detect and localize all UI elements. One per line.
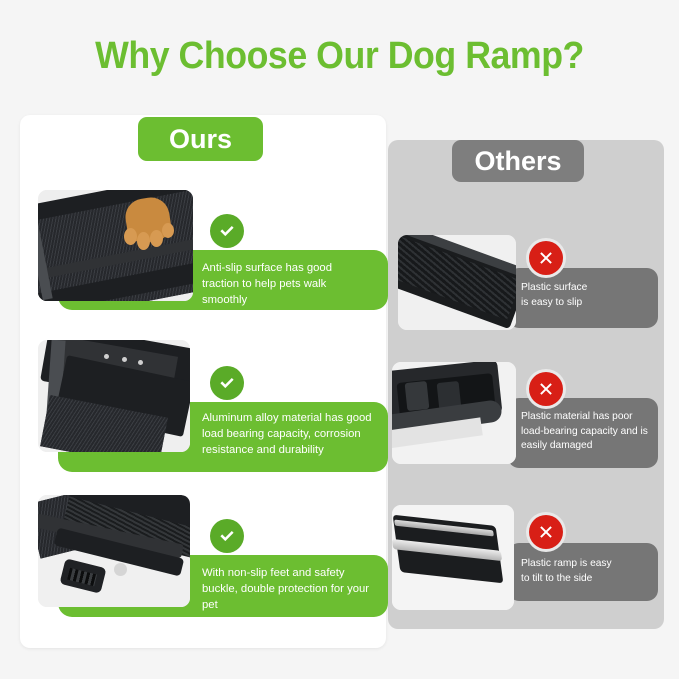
check-circle-icon	[210, 519, 244, 553]
infographic-root: Why Choose Our Dog Ramp? Plastic surface…	[0, 0, 679, 679]
ours-image-1	[38, 190, 193, 301]
x-circle-icon	[529, 372, 563, 406]
ours-text-2: Aluminum alloy material has good load be…	[202, 410, 378, 458]
others-image-1	[398, 235, 516, 330]
others-image-3	[392, 505, 514, 610]
badge-others: Others	[452, 140, 584, 182]
ours-row-3: With non-slip feet and safety buckle, do…	[20, 495, 386, 630]
x-circle-icon	[529, 241, 563, 275]
check-circle-icon	[210, 214, 244, 248]
page-title: Why Choose Our Dog Ramp?	[20, 34, 658, 78]
ours-text-1: Anti-slip surface has good traction to h…	[202, 260, 372, 308]
others-text-2: Plastic material has poor load-bearing c…	[521, 410, 655, 454]
ours-row-1: Anti-slip surface has good traction to h…	[20, 190, 386, 325]
ours-image-2	[38, 340, 190, 452]
ours-row-2: Aluminum alloy material has good load be…	[20, 340, 386, 475]
check-circle-icon	[210, 366, 244, 400]
x-circle-icon	[529, 515, 563, 549]
ours-image-3	[38, 495, 190, 607]
others-image-2	[392, 362, 516, 464]
badge-ours: Ours	[138, 117, 263, 161]
others-row-2: Plastic material has poor load-bearing c…	[388, 370, 664, 490]
others-text-3: Plastic ramp is easy to tilt to the side	[521, 557, 653, 586]
others-row-3: Plastic ramp is easy to tilt to the side	[388, 505, 664, 625]
others-text-1: Plastic surface is easy to slip	[521, 281, 651, 310]
others-row-1: Plastic surface is easy to slip	[388, 235, 664, 355]
ours-text-3: With non-slip feet and safety buckle, do…	[202, 565, 374, 613]
